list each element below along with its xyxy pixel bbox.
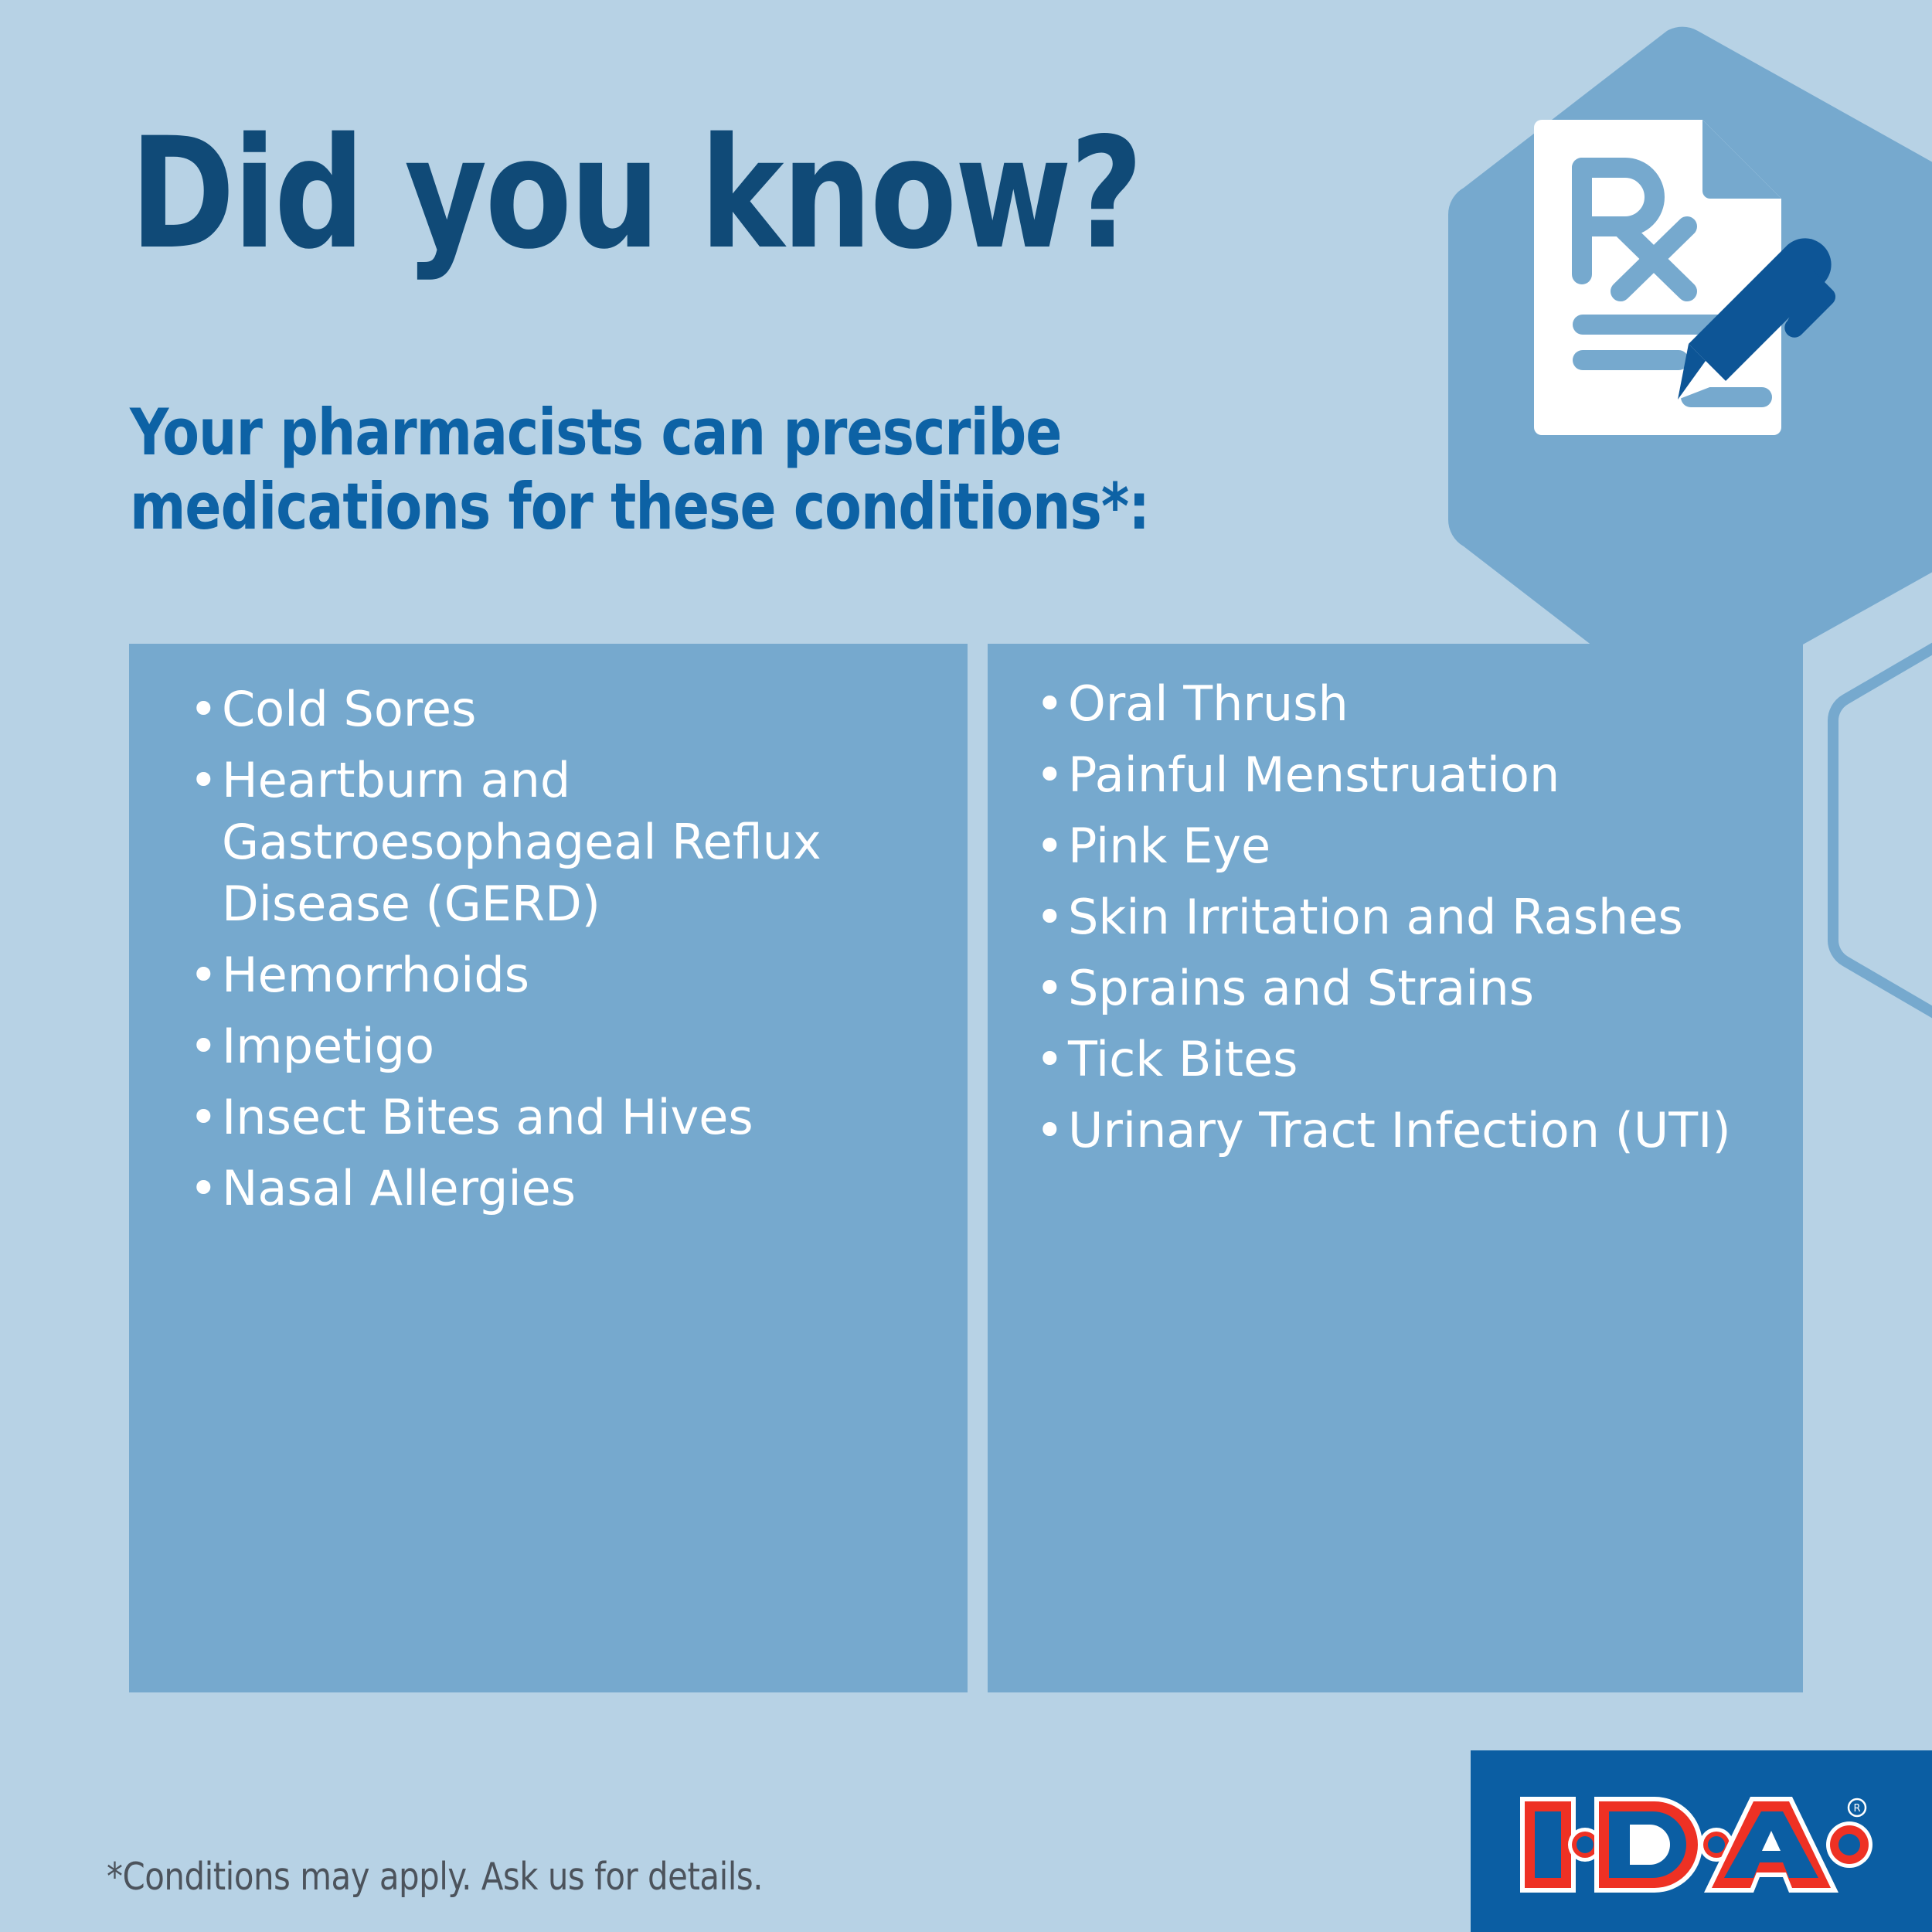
list-item: Skin Irritation and Rashes xyxy=(1036,886,1777,948)
document-line-2 xyxy=(1573,350,1689,370)
list-item: Heartburn and Gastroesophageal Reflux Di… xyxy=(189,750,931,935)
list-item: Tick Bites xyxy=(1036,1029,1777,1090)
prescription-illustration xyxy=(1526,112,1851,444)
conditions-list-left: Cold Sores Heartburn and Gastroesophagea… xyxy=(189,679,931,1229)
poster-canvas: Did you know? Your pharmacists can presc… xyxy=(0,0,1932,1932)
list-item: Pink Eye xyxy=(1036,815,1777,877)
subtitle-line-2: medications for these conditions*: xyxy=(130,470,1208,544)
page-subtitle: Your pharmacists can prescribe medicatio… xyxy=(130,396,1208,545)
conditions-panel-right: Oral Thrush Painful Menstruation Pink Ey… xyxy=(988,644,1803,1692)
registered-trademark-icon: R xyxy=(1849,1799,1866,1816)
list-item: Impetigo xyxy=(189,1015,931,1077)
list-item: Painful Menstruation xyxy=(1036,744,1777,806)
list-item: Cold Sores xyxy=(189,679,931,740)
document-fold-corner xyxy=(1702,120,1781,199)
footnote-disclaimer: *Conditions may apply. Ask us for detail… xyxy=(107,1855,763,1899)
page-title: Did you know? xyxy=(130,117,1141,270)
svg-text:R: R xyxy=(1853,1803,1860,1815)
list-item: Urinary Tract Infection (UTI) xyxy=(1036,1100,1777,1162)
list-item: Oral Thrush xyxy=(1036,673,1777,735)
ida-logo-block: R xyxy=(1471,1750,1932,1932)
conditions-list-right: Oral Thrush Painful Menstruation Pink Ey… xyxy=(1036,673,1777,1171)
list-item: Nasal Allergies xyxy=(189,1158,931,1219)
conditions-panel-left: Cold Sores Heartburn and Gastroesophagea… xyxy=(129,644,968,1692)
list-item: Insect Bites and Hives xyxy=(189,1087,931,1148)
ida-logo-letters xyxy=(1520,1797,1872,1893)
ida-logo: R xyxy=(1517,1791,1880,1899)
subtitle-line-1: Your pharmacists can prescribe xyxy=(130,396,1208,470)
list-item: Hemorrhoids xyxy=(189,944,931,1006)
list-item: Sprains and Strains xyxy=(1036,957,1777,1019)
hexagon-outline xyxy=(1833,588,1932,1073)
